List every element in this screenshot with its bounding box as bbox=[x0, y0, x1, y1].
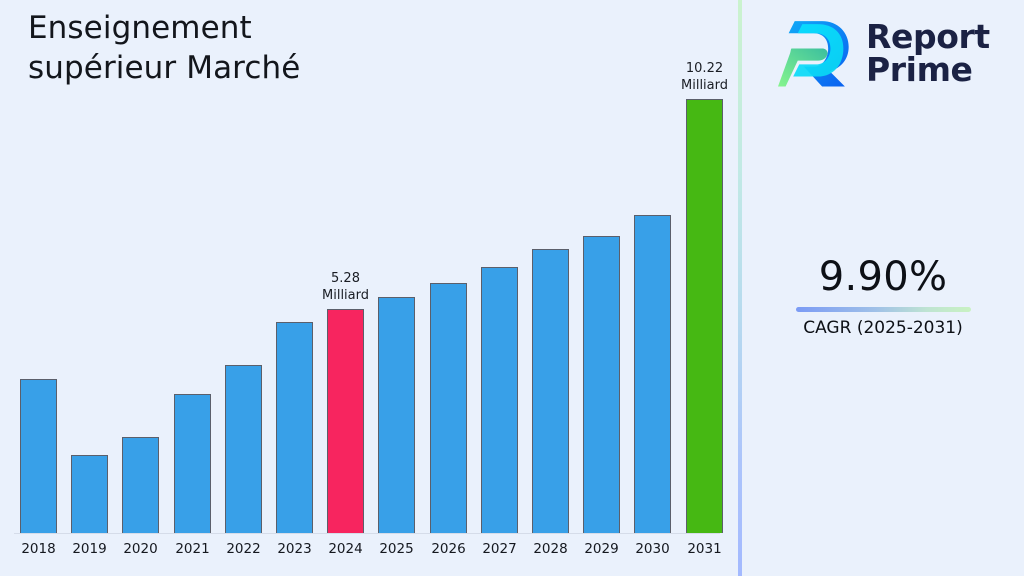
bar-2023[interactable] bbox=[276, 322, 313, 533]
chart-panel: Enseignement supérieur Marché 2018201920… bbox=[0, 0, 738, 576]
x-axis-line bbox=[14, 533, 720, 534]
bar-2029[interactable] bbox=[583, 236, 620, 533]
bar-2025[interactable] bbox=[378, 297, 415, 533]
bar-2020[interactable] bbox=[122, 437, 159, 533]
x-tick-2030: 2030 bbox=[623, 541, 683, 557]
bar-2028[interactable] bbox=[532, 249, 569, 533]
bar-value-label-2031: 10.22 Milliard bbox=[660, 60, 750, 94]
bar-2019[interactable] bbox=[71, 455, 108, 533]
bar-2018[interactable] bbox=[20, 379, 57, 533]
bar-value-label-2024: 5.28 Milliard bbox=[301, 270, 391, 304]
summary-panel: Report Prime 9.90% CAGR (2025-2031) bbox=[742, 0, 1024, 576]
brand-name-line2: Prime bbox=[866, 50, 973, 89]
bar-2031[interactable] bbox=[686, 99, 723, 533]
bar-2022[interactable] bbox=[225, 365, 262, 533]
cagr-divider-rule bbox=[796, 307, 971, 312]
infographic-root: Enseignement supérieur Marché 2018201920… bbox=[0, 0, 1024, 576]
bar-2021[interactable] bbox=[174, 394, 211, 533]
brand-logo: Report Prime bbox=[778, 12, 1018, 94]
cagr-block: 9.90% CAGR (2025-2031) bbox=[742, 253, 1024, 339]
bar-2030[interactable] bbox=[634, 215, 671, 533]
bar-2024[interactable] bbox=[327, 309, 364, 533]
bar-2027[interactable] bbox=[481, 267, 518, 533]
cagr-label: CAGR (2025-2031) bbox=[742, 317, 1024, 339]
bar-chart: 20182019202020212022202320245.28 Milliar… bbox=[0, 0, 738, 576]
cagr-value: 9.90% bbox=[742, 253, 1024, 301]
x-tick-2020: 2020 bbox=[111, 541, 171, 557]
bar-2026[interactable] bbox=[430, 283, 467, 533]
x-tick-2025: 2025 bbox=[367, 541, 427, 557]
brand-name: Report Prime bbox=[866, 20, 990, 86]
x-tick-2031: 2031 bbox=[675, 541, 735, 557]
report-prime-logo-icon bbox=[778, 16, 854, 90]
